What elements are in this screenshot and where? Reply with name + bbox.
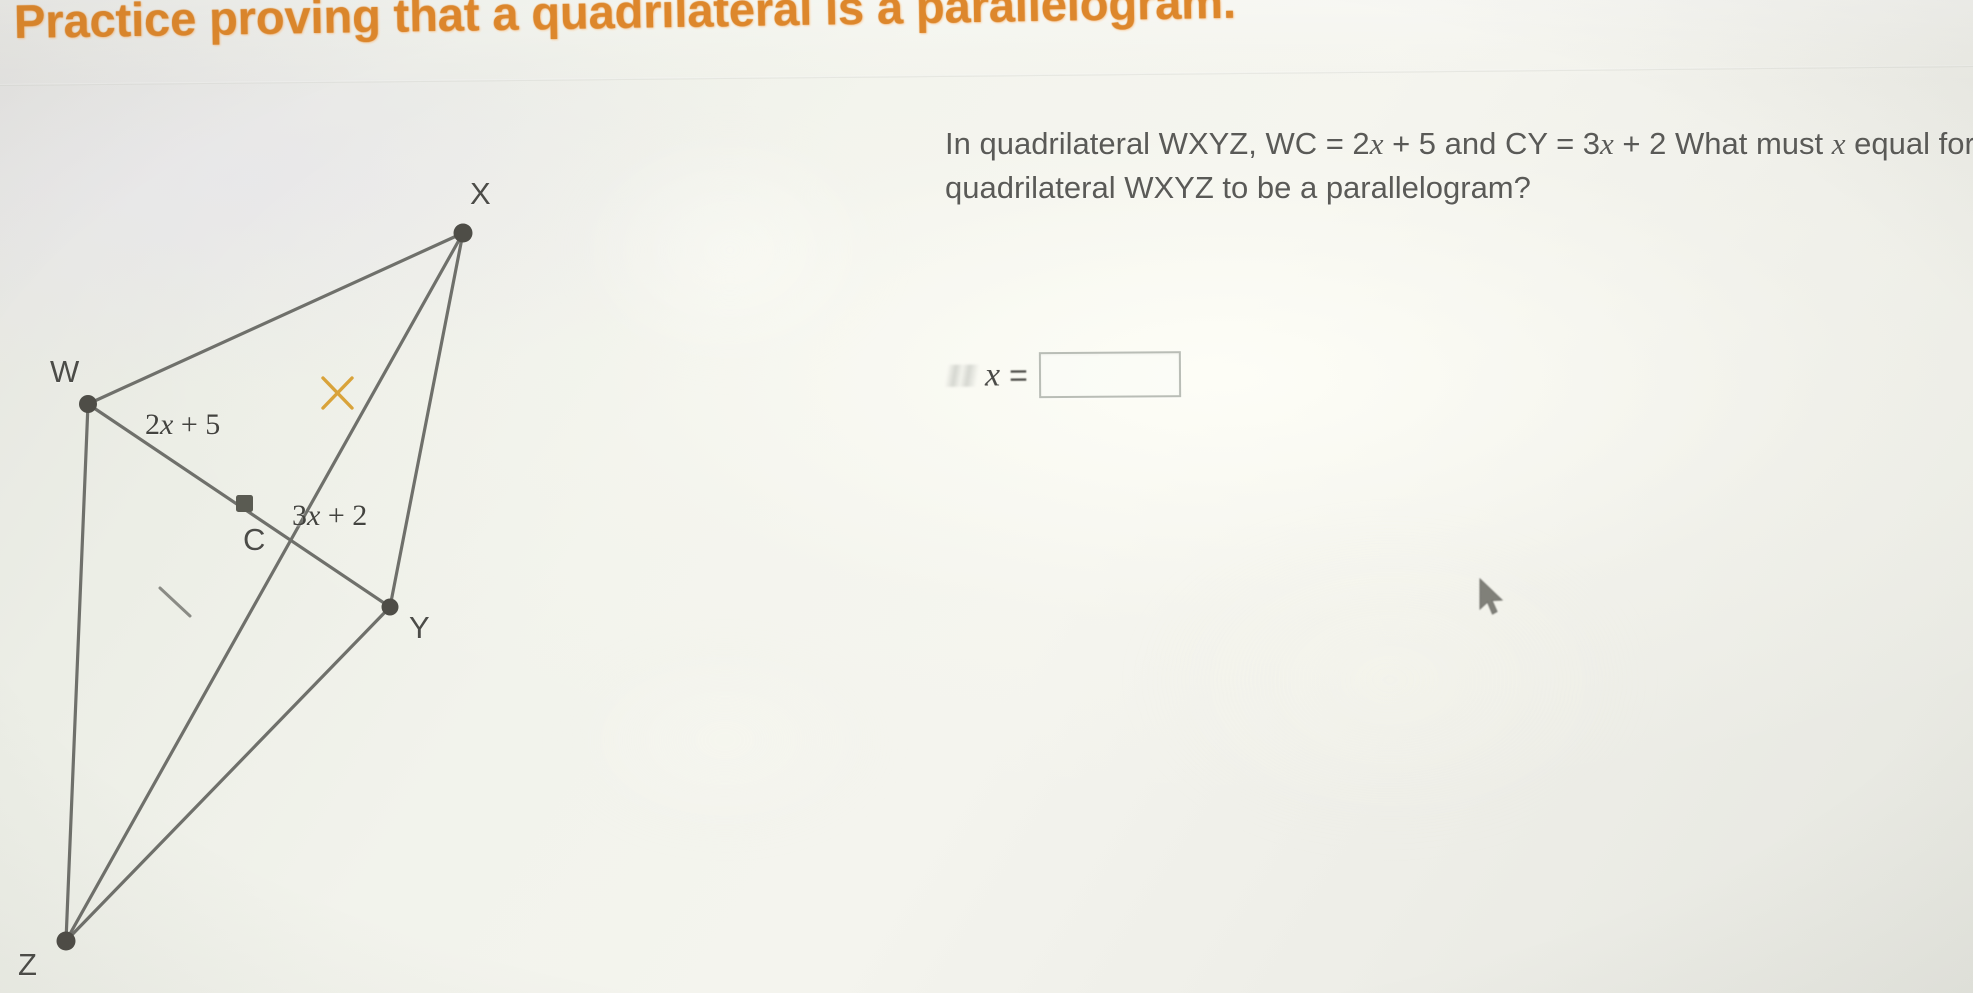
mouse-pointer-icon bbox=[1477, 577, 1507, 619]
question-line-3: parallelogram? bbox=[1326, 170, 1531, 205]
vertex-X bbox=[454, 224, 473, 243]
edge-YZ bbox=[66, 607, 390, 941]
cx-double-tick-icon bbox=[323, 378, 352, 408]
vertex-Z bbox=[57, 932, 76, 951]
vertex-label-Y: Y bbox=[409, 610, 430, 646]
segment-label-CY: 3x + 2 bbox=[292, 499, 367, 533]
vertex-label-Z: Z bbox=[18, 947, 37, 983]
cz-single-tick-icon bbox=[160, 588, 190, 616]
answer-input[interactable] bbox=[1039, 351, 1181, 398]
edge-XY bbox=[390, 233, 463, 607]
quadrilateral-diagram: W X Y Z C 2x + 5 3x + 2 bbox=[0, 96, 700, 993]
diagram-edges bbox=[66, 233, 463, 941]
vertex-label-W: W bbox=[50, 354, 79, 390]
vertex-Y bbox=[382, 599, 399, 616]
vertex-C bbox=[236, 495, 253, 512]
question-line-1: In quadrilateral WXYZ, WC = 2x + 5 and C… bbox=[945, 126, 1666, 161]
vertex-label-X: X bbox=[470, 176, 491, 212]
question-text: In quadrilateral WXYZ, WC = 2x + 5 and C… bbox=[945, 122, 1973, 210]
segment-label-WC: 2x + 5 bbox=[145, 408, 220, 442]
answer-row: x = bbox=[945, 351, 1181, 399]
answer-variable-label: x bbox=[985, 356, 1000, 394]
diagonal-XZ bbox=[66, 233, 463, 941]
edge-ZW bbox=[66, 404, 88, 941]
vertex-W bbox=[79, 395, 97, 413]
text-caret-artifact bbox=[945, 365, 979, 387]
vertex-label-C: C bbox=[243, 522, 265, 558]
diagram-svg bbox=[0, 0, 700, 993]
question-panel: In quadrilateral WXYZ, WC = 2x + 5 and C… bbox=[945, 122, 1973, 210]
answer-equals-sign: = bbox=[1009, 357, 1027, 394]
edge-WX bbox=[88, 233, 463, 404]
